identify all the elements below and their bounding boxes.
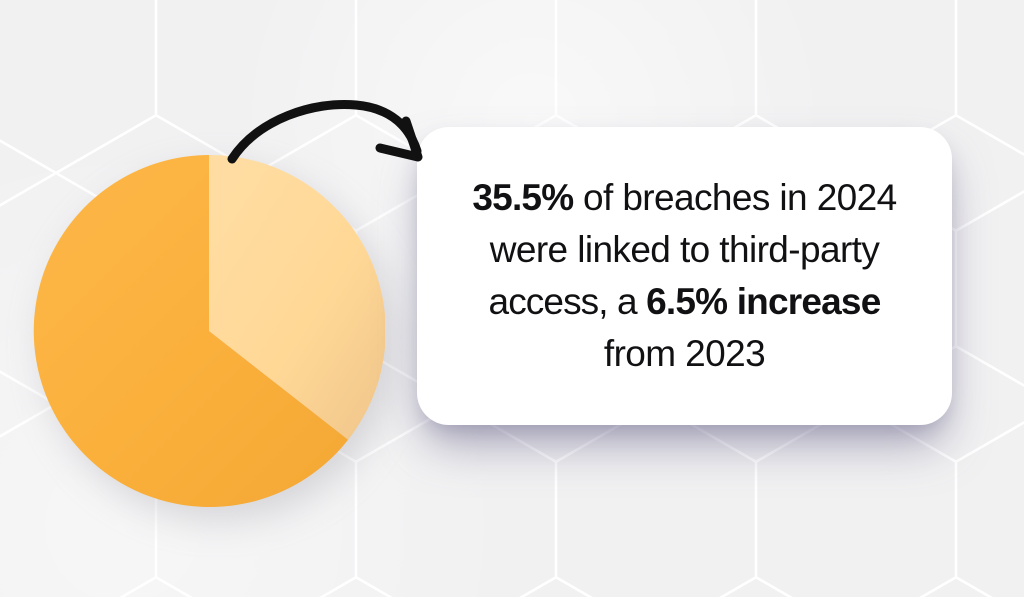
statistic-callout-card: 35.5% of breaches in 2024 were linked to…	[417, 127, 952, 425]
statistic-line-4: from 2023	[440, 328, 929, 380]
statistic-highlight-increase: 6.5% increase	[646, 281, 880, 322]
statistic-line-3-pre: access, a	[489, 281, 647, 322]
infographic-canvas: 35.5% of breaches in 2024 were linked to…	[0, 0, 1024, 597]
statistic-highlight-percent: 35.5%	[472, 177, 573, 218]
statistic-text: 35.5% of breaches in 2024 were linked to…	[432, 172, 937, 380]
statistic-line-3: access, a 6.5% increase	[440, 276, 929, 328]
statistic-line-1-rest: of breaches in 2024	[573, 177, 896, 218]
statistic-line-2: were linked to third-party	[440, 224, 929, 276]
statistic-line-1: 35.5% of breaches in 2024	[440, 172, 929, 224]
pie-chart	[33, 155, 385, 507]
pie-chart-slices	[33, 155, 385, 507]
